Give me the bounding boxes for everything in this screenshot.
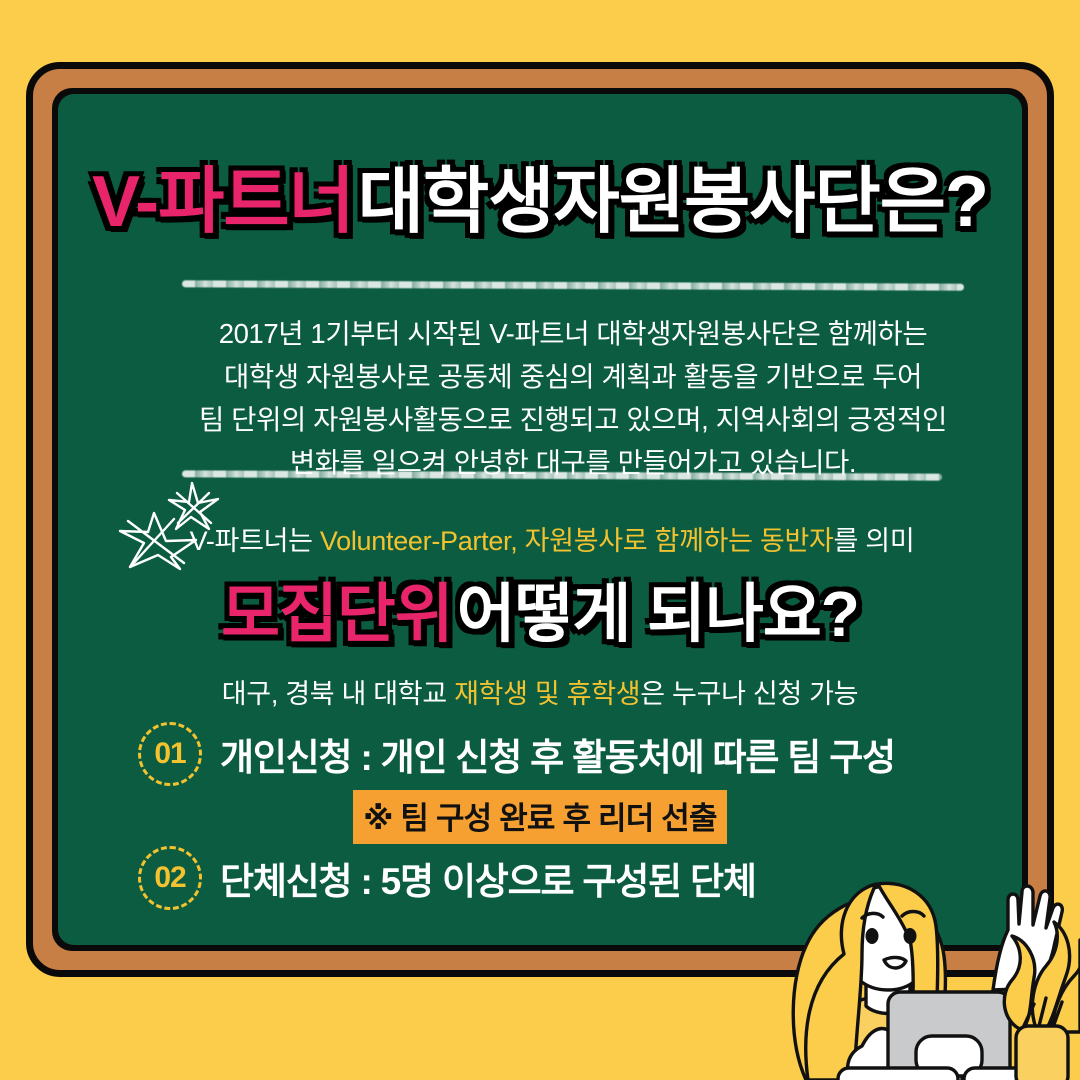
eligibility-prefix: 대구, 경북 내 대학교: [222, 679, 454, 709]
meaning-line: V-파트너는 Volunteer-Parter, 자원봉사로 함께하는 동반자를…: [58, 519, 1022, 558]
apply-option-row: 01 개인신청 : 개인 신청 후 활동처에 따른 팀 구성: [138, 722, 895, 786]
meaning-suffix: 를 의미: [834, 526, 915, 556]
meaning-prefix: V-파트너는: [190, 526, 320, 556]
section-heading-recruitment: 모집단위어떻게 되나요?: [58, 582, 1022, 646]
chalkboard-frame: V-파트너대학생자원봉사단은? 2017년 1기부터 시작된 V-파트너 대학생…: [26, 62, 1054, 977]
mousepad: [964, 1068, 1050, 1080]
apply-option-number-badge: 02: [138, 846, 202, 910]
intro-line: 2017년 1기부터 시작된 V-파트너 대학생자원봉사단은 함께하는: [138, 312, 1008, 355]
apply-option-number-badge: 01: [138, 722, 202, 786]
page-title-rest: 대학생자원봉사단은?: [358, 162, 988, 242]
intro-line: 대학생 자원봉사로 공동체 중심의 계획과 활동을 기반으로 두어: [138, 355, 1008, 398]
monitor-stand-base: [916, 1036, 982, 1076]
monitor-stand-neck: [936, 1068, 962, 1080]
plant-leaf-3: [1052, 940, 1080, 1032]
apply-option-row: 02 단체신청 : 5명 이상으로 구성된 단체: [138, 846, 756, 910]
apply-option-text: 개인신청 : 개인 신청 후 활동처에 따른 팀 구성: [220, 727, 895, 781]
section-heading-rest: 어떻게 되나요?: [457, 578, 859, 650]
intro-line: 팀 단위의 자원봉사활동으로 진행되고 있으며, 지역사회의 긍정적인: [138, 398, 1008, 441]
meaning-highlight: Volunteer-Parter, 자원봉사로 함께하는 동반자: [320, 526, 834, 556]
chalk-divider-top: [182, 280, 964, 290]
typing-hand: [848, 1028, 915, 1080]
chalkboard-surface: V-파트너대학생자원봉사단은? 2017년 1기부터 시작된 V-파트너 대학생…: [58, 94, 1022, 945]
shirt: [812, 998, 972, 1080]
page-title-highlight: V-파트너: [92, 162, 354, 242]
monitor-screen: [888, 992, 1010, 1080]
chalkboard-outline: V-파트너대학생자원봉사단은? 2017년 1기부터 시작된 V-파트너 대학생…: [52, 88, 1028, 951]
plant-vase: [1016, 1026, 1068, 1080]
page-title: V-파트너대학생자원봉사단은?: [58, 166, 1022, 238]
leader-note-text: ※ 팀 구성 완료 후 리더 선출: [353, 790, 726, 844]
leader-note: ※ 팀 구성 완료 후 리더 선출: [58, 790, 1022, 844]
poster-canvas: V-파트너대학생자원봉사단은? 2017년 1기부터 시작된 V-파트너 대학생…: [0, 0, 1080, 1080]
neck: [866, 976, 910, 1014]
section-heading-highlight: 모집단위: [221, 578, 453, 650]
plant-stems: [1022, 998, 1062, 1030]
eligibility-suffix: 은 누구나 신청 가능: [640, 679, 858, 709]
apply-option-text: 단체신청 : 5명 이상으로 구성된 단체: [220, 851, 756, 905]
keyboard: [838, 1068, 958, 1080]
intro-paragraph: 2017년 1기부터 시작된 V-파트너 대학생자원봉사단은 함께하는 대학생 …: [138, 312, 1008, 484]
eligibility-highlight: 재학생 및 휴학생: [454, 679, 640, 709]
eligibility-line: 대구, 경북 내 대학교 재학생 및 휴학생은 누구나 신청 가능: [58, 672, 1022, 711]
